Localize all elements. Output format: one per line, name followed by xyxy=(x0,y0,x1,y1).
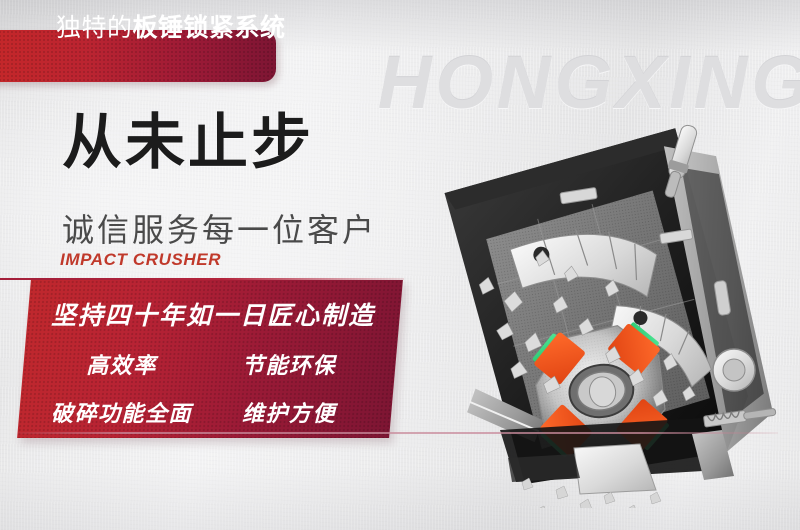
feature-item: 破碎功能全面 xyxy=(34,396,209,428)
feature-list: 高效率 节能环保 破碎功能全面 维护方便 xyxy=(34,348,396,428)
feature-item: 节能环保 xyxy=(209,348,369,380)
feature-item: 高效率 xyxy=(34,348,209,380)
promo-banner: HONGXING xyxy=(0,0,800,530)
divider-bottom xyxy=(18,432,778,434)
badge-text-bold: 板锤锁紧系统 xyxy=(133,8,286,44)
impact-crusher-illustration xyxy=(404,118,800,508)
badge-text-light: 独特的 xyxy=(56,8,133,44)
feature-panel-content: 坚持四十年如一日匠心制造 高效率 节能环保 破碎功能全面 维护方便 xyxy=(24,280,396,438)
brand-watermark: HONGXING xyxy=(378,40,800,125)
feature-panel-title: 坚持四十年如一日匠心制造 xyxy=(30,296,396,332)
subheadline: 诚信服务每一位客户 xyxy=(62,205,377,251)
feature-panel: 坚持四十年如一日匠心制造 高效率 节能环保 破碎功能全面 维护方便 xyxy=(17,280,403,438)
product-eyebrow-label: IMPACT CRUSHER xyxy=(60,250,221,270)
headline: 从未止步 xyxy=(62,113,314,173)
badge-text: 独特的 板锤锁紧系统 xyxy=(56,0,286,52)
feature-item: 维护方便 xyxy=(209,396,369,428)
